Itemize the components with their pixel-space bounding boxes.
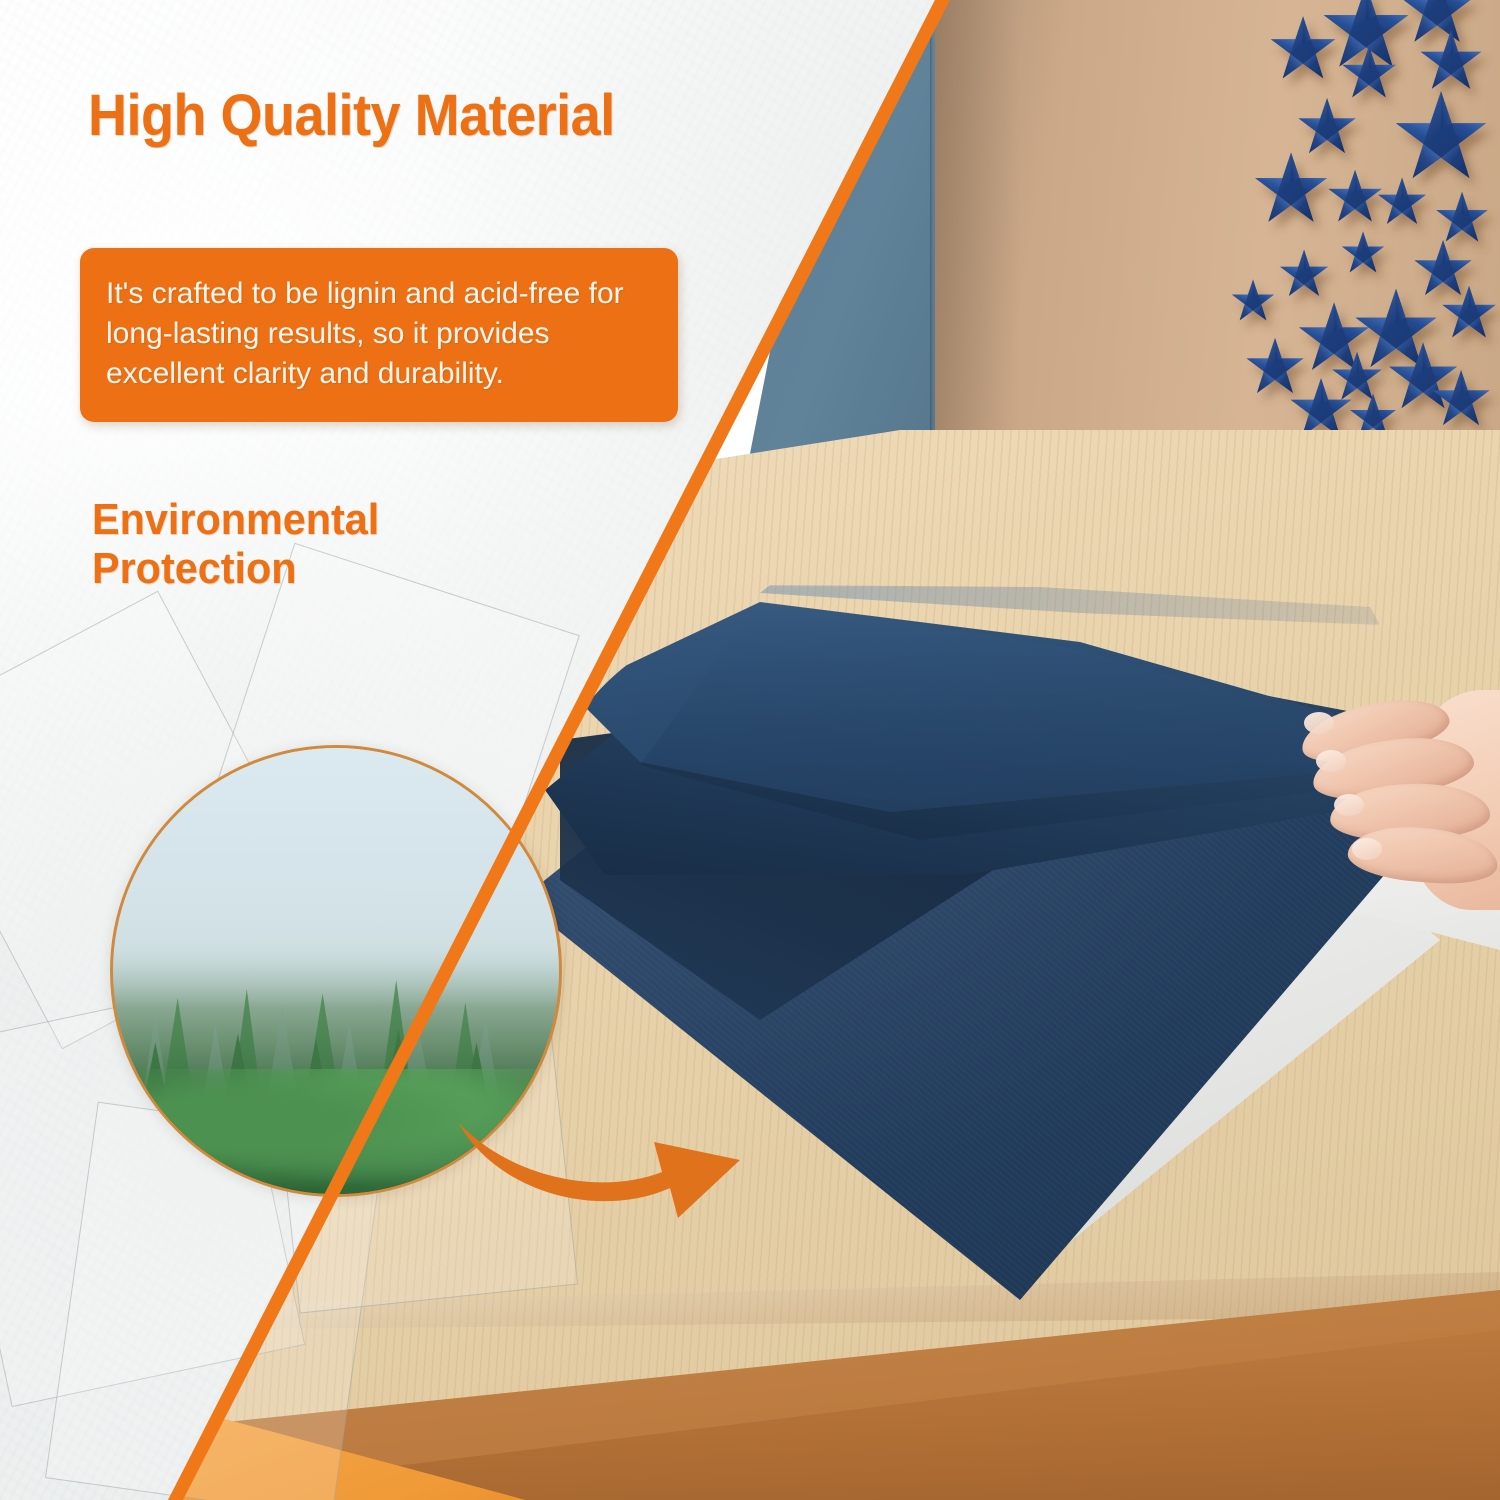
product-feature-graphic: High Quality Material It's crafted to be… [0, 0, 1500, 1500]
page-title: High Quality Material [88, 82, 615, 149]
fog-layer [113, 748, 559, 1007]
fingernail [1304, 712, 1334, 734]
fingernail [1316, 750, 1346, 772]
hand-lifting-paper [1290, 690, 1500, 910]
fingernail [1334, 794, 1364, 816]
subheading-line-2: Protection [92, 544, 297, 593]
feature-callout-text: It's crafted to be lignin and acid-free … [106, 274, 648, 394]
subheading-line-1: Environmental [92, 495, 379, 544]
fingernail [1352, 838, 1382, 860]
curved-arrow-right-icon [440, 1100, 790, 1240]
subheading: Environmental Protection [92, 495, 379, 594]
feature-callout-box: It's crafted to be lignin and acid-free … [80, 248, 678, 422]
